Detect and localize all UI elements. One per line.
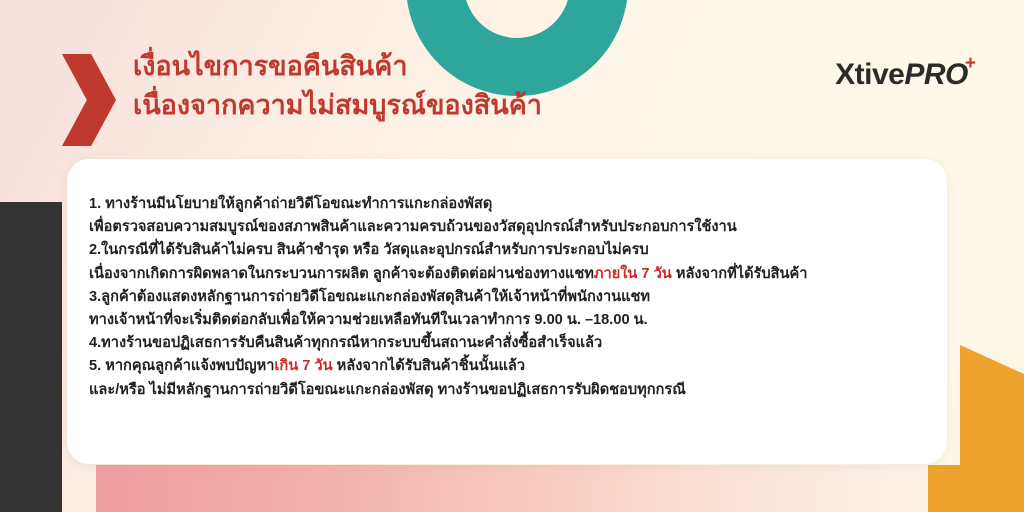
policy-text: เพื่อตรวจสอบความสมบูรณ์ของสภาพสินค้าและค… <box>89 219 737 235</box>
policy-text: เนื่องจากเกิดการผิดพลาดในกระบวนการผลิต ล… <box>89 266 594 282</box>
policy-highlight-text: เกิน 7 วัน <box>274 358 332 374</box>
policy-line-item-4: 4.ทางร้านขอปฏิเสธการรับคืนสินค้าทุกกรณีห… <box>89 332 929 355</box>
policy-line-item-5b: และ/หรือ ไม่มีหลักฐานการถ่ายวิดีโอขณะแกะ… <box>89 379 929 402</box>
policy-card: 1. ทางร้านมีนโยบายให้ลูกค้าถ่ายวิดีโอขณะ… <box>67 159 947 464</box>
policy-line-item-2a: 2.ในกรณีที่ได้รับสินค้าไม่ครบ สินค้าชำรุ… <box>89 239 929 262</box>
orange-bottom-band-decoration <box>928 465 1024 512</box>
brand-logo-secondary: PRO <box>904 58 968 92</box>
page-title: เงื่อนไขการขอคืนสินค้า เนื่องจากความไม่ส… <box>133 47 753 125</box>
policy-line-item-3b: ทางเจ้าหน้าที่จะเริ่มติดต่อกลับเพื่อให้ค… <box>89 309 929 332</box>
return-policy-banner: เงื่อนไขการขอคืนสินค้า เนื่องจากความไม่ส… <box>0 0 1024 512</box>
plus-icon: + <box>965 54 976 73</box>
brand-logo-primary: Xtive <box>835 58 904 92</box>
chevron-right-icon <box>62 54 116 146</box>
policy-line-item-1b: เพื่อตรวจสอบความสมบูรณ์ของสภาพสินค้าและค… <box>89 216 929 239</box>
dark-left-bar-decoration <box>0 202 62 512</box>
policy-text: 3.ลูกค้าต้องแสดงหลักฐานการถ่ายวิดีโอขณะแ… <box>89 289 650 305</box>
policy-line-item-5a: 5. หากคุณลูกค้าแจ้งพบปัญหาเกิน 7 วัน หลั… <box>89 355 929 378</box>
policy-list: 1. ทางร้านมีนโยบายให้ลูกค้าถ่ายวิดีโอขณะ… <box>89 193 929 402</box>
policy-text: 5. หากคุณลูกค้าแจ้งพบปัญหา <box>89 358 274 374</box>
policy-text: หลังจากที่ได้รับสินค้า <box>672 266 808 282</box>
pink-bottom-band-decoration <box>96 465 928 512</box>
page-title-line-1: เงื่อนไขการขอคืนสินค้า <box>133 47 753 86</box>
policy-text: หลังจากได้รับสินค้าชิ้นนั้นแล้ว <box>333 358 525 374</box>
policy-line-item-1a: 1. ทางร้านมีนโยบายให้ลูกค้าถ่ายวิดีโอขณะ… <box>89 193 929 216</box>
page-title-line-2: เนื่องจากความไม่สมบูรณ์ของสินค้า <box>133 86 753 125</box>
policy-text: ทางเจ้าหน้าที่จะเริ่มติดต่อกลับเพื่อให้ค… <box>89 312 648 328</box>
policy-text: และ/หรือ ไม่มีหลักฐานการถ่ายวิดีโอขณะแกะ… <box>89 382 686 398</box>
brand-logo: Xtive PRO + <box>835 58 976 92</box>
policy-text: 1. ทางร้านมีนโยบายให้ลูกค้าถ่ายวิดีโอขณะ… <box>89 196 492 212</box>
policy-highlight-text: ภายใน 7 วัน <box>594 266 672 282</box>
policy-text: 2.ในกรณีที่ได้รับสินค้าไม่ครบ สินค้าชำรุ… <box>89 242 649 258</box>
policy-line-item-2b: เนื่องจากเกิดการผิดพลาดในกระบวนการผลิต ล… <box>89 263 929 286</box>
policy-line-item-3a: 3.ลูกค้าต้องแสดงหลักฐานการถ่ายวิดีโอขณะแ… <box>89 286 929 309</box>
policy-text: 4.ทางร้านขอปฏิเสธการรับคืนสินค้าทุกกรณีห… <box>89 335 602 351</box>
